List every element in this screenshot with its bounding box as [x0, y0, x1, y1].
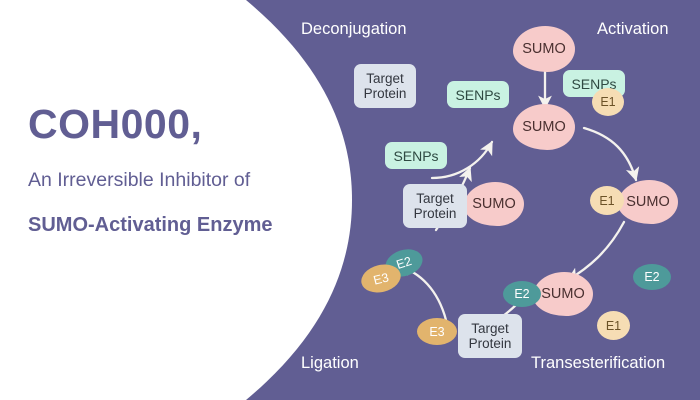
node-target-protein-free[interactable]: Target Protein — [354, 64, 416, 108]
node-label: SENPs — [455, 87, 500, 103]
node-label-line2: Protein — [469, 336, 512, 351]
node-label: E1 — [606, 319, 621, 333]
node-sumo-conjugated[interactable]: SUMO — [464, 182, 524, 226]
node-label: SUMO — [626, 194, 670, 210]
node-sumo-free-top[interactable]: SUMO — [513, 26, 575, 72]
node-label: SENPs — [393, 148, 438, 164]
arrow-activation — [584, 128, 636, 180]
node-target-protein-bottom[interactable]: Target Protein — [458, 314, 522, 358]
headline-block: COH000, An Irreversible Inhibitor of SUM… — [0, 104, 300, 235]
node-label: E3 — [372, 270, 390, 287]
stage-label-deconjugation: Deconjugation — [301, 20, 407, 39]
node-label: E3 — [429, 325, 444, 339]
node-e3-bottom[interactable]: E3 — [417, 318, 457, 345]
node-e2-bound-sumo[interactable]: E2 — [503, 281, 541, 307]
node-e1-bound[interactable]: E1 — [590, 186, 624, 215]
node-label-line1: Target — [471, 321, 509, 336]
node-label-line1: Target — [416, 191, 454, 206]
node-label: SUMO — [522, 119, 566, 135]
node-label-line1: Target — [366, 71, 404, 86]
stage-label-activation: Activation — [597, 20, 669, 39]
node-label: E2 — [644, 270, 659, 284]
subtitle-line: An Irreversible Inhibitor of — [28, 171, 300, 191]
node-label: E2 — [514, 287, 529, 301]
node-e2-free-right[interactable]: E2 — [633, 264, 671, 290]
page-title: COH000, — [28, 104, 300, 145]
node-e1-free-top[interactable]: E1 — [592, 88, 624, 116]
node-target-protein-sumoylated[interactable]: Target Protein — [403, 184, 467, 228]
node-label: SUMO — [522, 41, 566, 57]
arrow-transesterification — [568, 222, 624, 280]
stage-label-transesterification: Transesterification — [531, 354, 665, 373]
node-label: SUMO — [541, 286, 585, 302]
node-label-line2: Protein — [364, 86, 407, 101]
node-label: E1 — [599, 194, 614, 208]
infographic-canvas: COH000, An Irreversible Inhibitor of SUM… — [0, 0, 700, 400]
subtitle-bold: SUMO-Activating Enzyme — [28, 215, 300, 235]
node-e1-free-bottom[interactable]: E1 — [597, 311, 630, 340]
node-senps-mid[interactable]: SENPs — [447, 81, 509, 108]
node-label-line2: Protein — [414, 206, 457, 221]
node-senps-left[interactable]: SENPs — [385, 142, 447, 169]
node-label: E1 — [600, 95, 615, 109]
node-sumo-e1[interactable]: SUMO — [618, 180, 678, 224]
stage-label-ligation: Ligation — [301, 354, 359, 373]
node-label: SUMO — [472, 196, 516, 212]
node-sumo-hub[interactable]: SUMO — [513, 104, 575, 150]
node-sumo-e2[interactable]: SUMO — [533, 272, 593, 316]
